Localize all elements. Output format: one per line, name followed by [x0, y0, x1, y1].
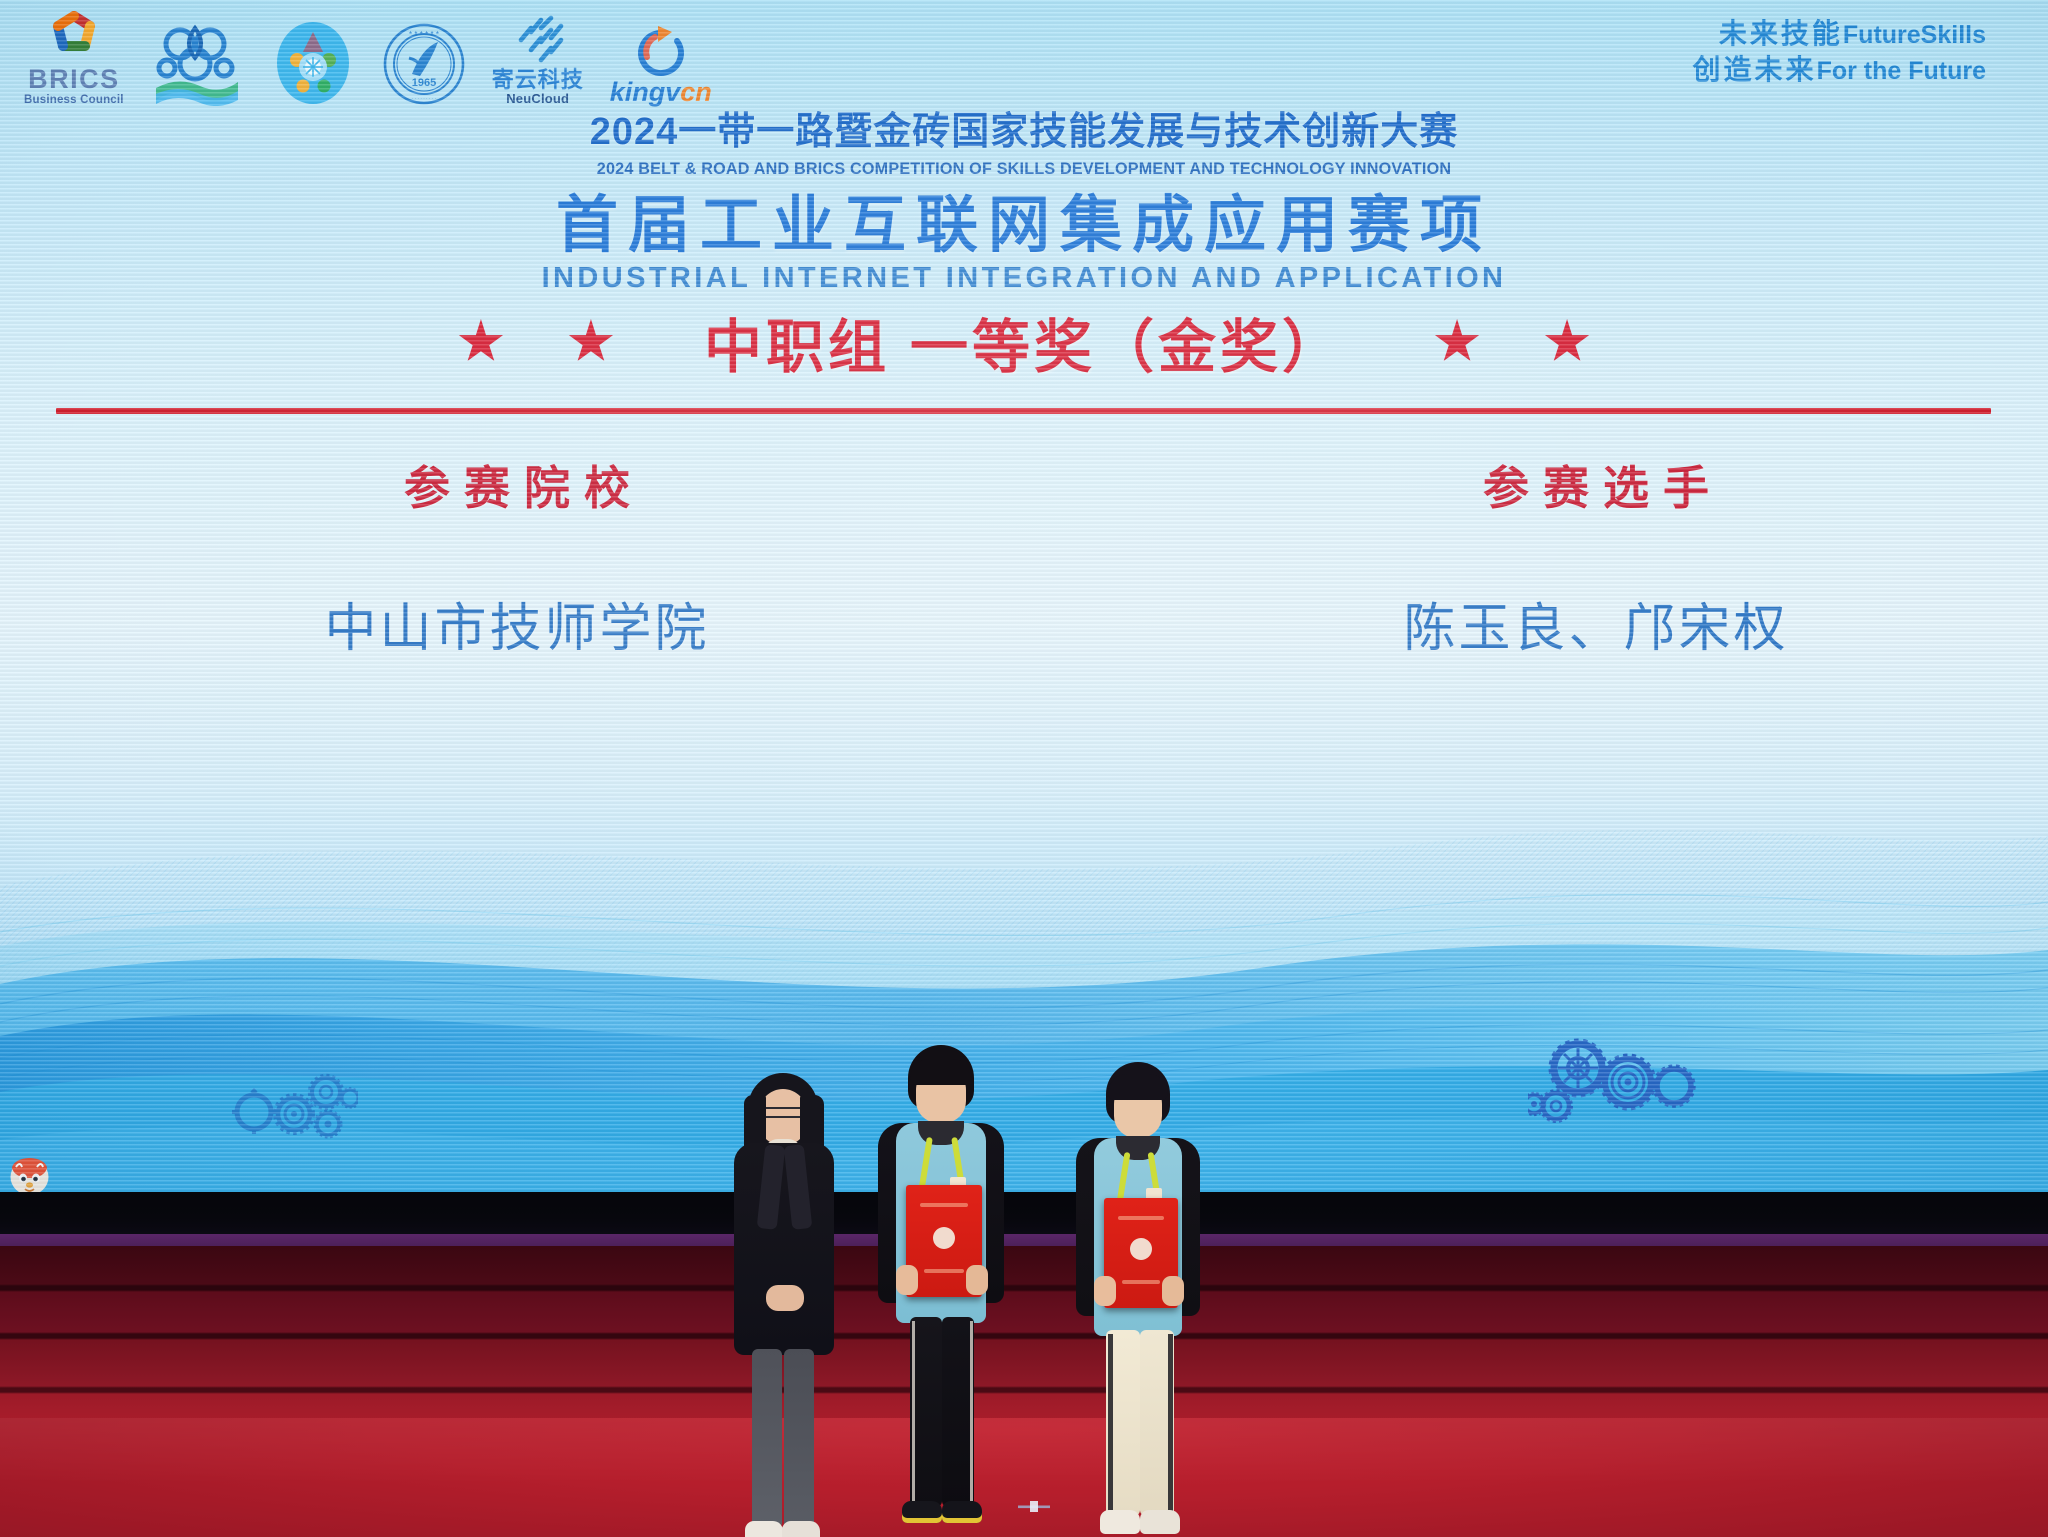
star-icon	[568, 319, 614, 365]
logo-skills-star-emblem	[270, 20, 356, 106]
seal-year: 1965	[411, 77, 435, 89]
star-group-right	[1434, 319, 1590, 365]
student-left-hand-right	[966, 1265, 988, 1295]
student-right-pant-stripe-left	[1108, 1334, 1113, 1512]
column-header-school: 参赛院校	[0, 452, 1024, 518]
gear-cluster-left-icon	[228, 1068, 358, 1153]
led-display-screen: BRICS Business Council	[0, 0, 2048, 1196]
brics-star-icon	[38, 6, 110, 64]
brics-subtitle: Business Council	[24, 94, 124, 106]
certificate-top-line	[1118, 1216, 1164, 1220]
stage-steps	[0, 1246, 2048, 1421]
tiger-mascot-icon	[8, 1155, 52, 1196]
slogan-line-2: 创造未来For the Future	[1693, 52, 1986, 88]
logo-university-seal: 1965 ★ ★ ★ ★ ★ ★ · · · · · · · · ·	[382, 22, 466, 106]
presenter-shoe-left	[745, 1521, 783, 1537]
student-left-fringe	[910, 1059, 972, 1085]
slogan-line-1: 未来技能FutureSkills	[1693, 16, 1986, 52]
student-right-shoe-left	[1100, 1510, 1140, 1534]
brics-wordmark: BRICS	[28, 66, 120, 93]
presenter-glasses	[762, 1107, 804, 1118]
star-icon	[1434, 319, 1480, 365]
neucloud-wordmark-cn: 寄云科技	[492, 68, 584, 91]
slogan-line-2-cn: 创造未来	[1693, 54, 1817, 85]
presenter-leg-right	[784, 1349, 814, 1527]
ceremony-scene: BRICS Business Council	[0, 0, 2048, 1537]
red-divider-rule	[56, 408, 1991, 414]
person-student-left	[866, 1045, 1016, 1475]
student-left-pant-stripe-right	[970, 1321, 973, 1501]
award-title: 中职组 一等奖（金奖）	[704, 300, 1344, 384]
student-right-shoe-right	[1140, 1510, 1180, 1534]
slogan-line-1-cn: 未来技能	[1719, 18, 1843, 49]
person-presenter	[712, 1073, 852, 1473]
winners-header-row: 参赛院校 参赛选手	[0, 452, 2048, 518]
project-title-cn: 首届工业互联网集成应用赛项	[0, 191, 2048, 260]
logo-brics-business-council: BRICS Business Council	[24, 6, 124, 106]
student-left-shoe-left	[902, 1501, 942, 1523]
neucloud-wordmark-en: NeuCloud	[506, 91, 569, 106]
person-student-right	[1062, 1062, 1212, 1482]
certificate-bottom-line	[1122, 1280, 1160, 1284]
logo-brics-skills	[150, 18, 244, 106]
kingvcn-wordmark: kingvcn	[610, 79, 712, 106]
svg-text:★ ★ ★ ★ ★ ★: ★ ★ ★ ★ ★ ★	[408, 30, 440, 35]
presenter-hands	[766, 1285, 804, 1311]
student-left-hand-left	[896, 1265, 918, 1295]
star-icon	[458, 319, 504, 365]
event-title-cn: 2024一带一路暨金砖国家技能发展与技术创新大赛	[0, 112, 2048, 154]
student-left-shoe-right	[942, 1501, 982, 1523]
sponsor-logo-strip: BRICS Business Council	[24, 6, 712, 106]
neucloud-diamond-icon	[501, 14, 575, 68]
stage-floor	[0, 1418, 2048, 1537]
future-skills-slogan: 未来技能FutureSkills 创造未来For the Future	[1693, 16, 1986, 88]
kingvcn-word-primary: kingv	[610, 77, 681, 107]
floor-tape-marker	[1018, 1500, 1050, 1512]
wave-decoration-graphic	[0, 736, 2048, 1196]
kingvcn-arrow-icon	[625, 23, 697, 79]
certificate-top-line	[920, 1203, 968, 1207]
brics-ribbon-icon	[150, 18, 244, 106]
student-right-fringe	[1108, 1074, 1168, 1100]
slogan-line-2-en: For the Future	[1817, 57, 1986, 85]
presenter-leg-left	[752, 1349, 782, 1527]
student-right-hand-left	[1094, 1276, 1116, 1306]
certificate-bottom-line	[924, 1269, 964, 1273]
logo-neucloud: 寄云科技 NeuCloud	[492, 14, 584, 106]
svg-text:· · · · · · · · ·: · · · · · · · · ·	[412, 96, 436, 101]
column-header-player: 参赛选手	[1024, 452, 2048, 518]
certificate-seal	[1130, 1238, 1152, 1260]
winners-table: 参赛院校 参赛选手 中山市技师学院 陈玉良、邝宋权	[0, 452, 2048, 661]
student-right-pant-stripe-right	[1168, 1334, 1173, 1512]
certificate-seal	[933, 1227, 955, 1249]
star-icon	[1544, 319, 1590, 365]
logo-kingvcn: kingvcn	[610, 23, 712, 106]
student-left-pant-stripe-left	[912, 1321, 915, 1501]
presenter-coat	[734, 1143, 834, 1355]
event-title-en: 2024 BELT & ROAD AND BRICS COMPETITION O…	[20, 160, 2027, 179]
slogan-line-1-en: FutureSkills	[1843, 21, 1986, 49]
project-title-en: INDUSTRIAL INTERNET INTEGRATION AND APPL…	[0, 262, 2048, 295]
university-seal-icon: 1965 ★ ★ ★ ★ ★ ★ · · · · · · · · ·	[382, 22, 466, 106]
winners-value-row: 中山市技师学院 陈玉良、邝宋权	[0, 586, 2048, 661]
skills-star-emblem-icon	[270, 20, 356, 106]
value-player: 陈玉良、邝宋权	[1024, 586, 2048, 661]
award-headline-row: 中职组 一等奖（金奖）	[0, 300, 2048, 384]
kingvcn-word-accent: cn	[680, 77, 712, 107]
screen-base-shadow	[0, 1192, 2048, 1236]
gear-cluster-right-icon	[1528, 1018, 1698, 1153]
value-school: 中山市技师学院	[0, 586, 1024, 661]
competition-titles: 2024一带一路暨金砖国家技能发展与技术创新大赛 2024 BELT & ROA…	[0, 112, 2048, 295]
star-group-left	[458, 319, 614, 365]
presenter-shoe-right	[782, 1521, 820, 1537]
student-right-hand-right	[1162, 1276, 1184, 1306]
